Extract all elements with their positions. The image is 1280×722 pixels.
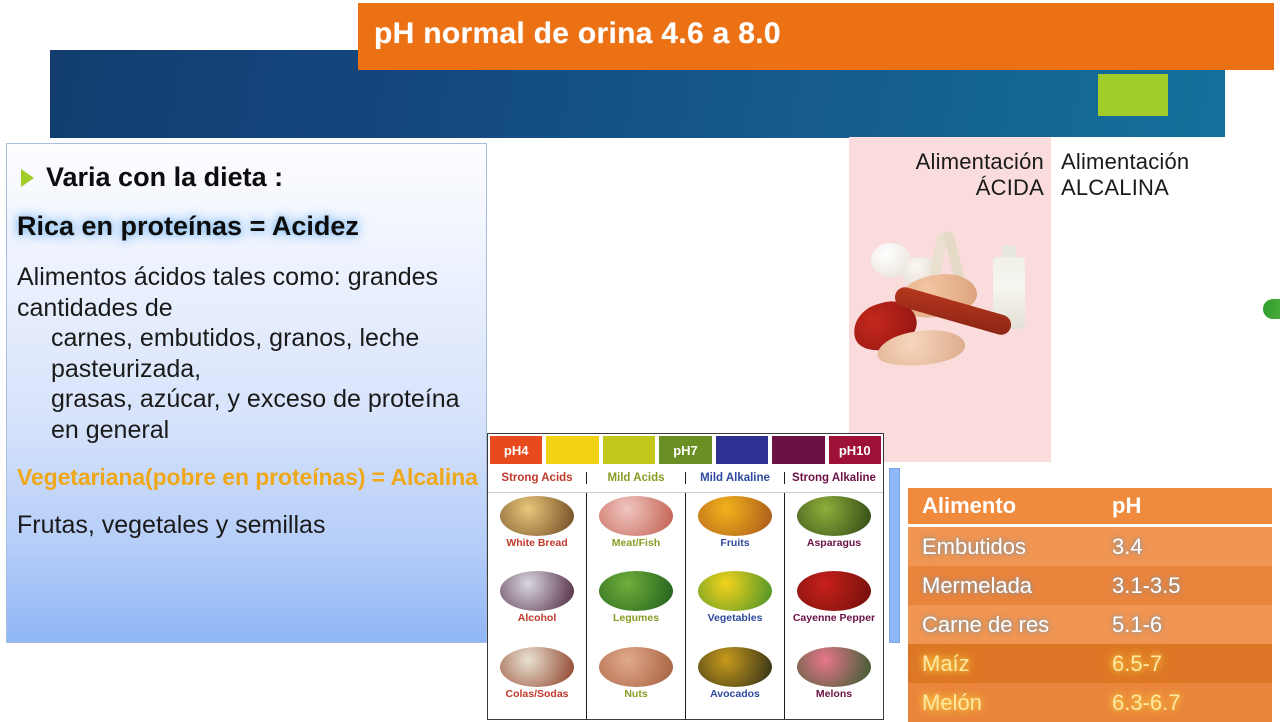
ph-swatch-3 bbox=[603, 436, 655, 464]
table-row: Mermelada3.1-3.5 bbox=[908, 566, 1272, 605]
highlight-heading: Rica en proteínas = Acidez bbox=[17, 211, 476, 242]
ph-food-cell: Alcohol bbox=[488, 568, 586, 643]
table-row: Maíz6.5-7 bbox=[908, 644, 1272, 683]
ph-column-1: White BreadAlcoholColas/Sodas bbox=[488, 493, 587, 719]
ph-food-cell: Fruits bbox=[686, 493, 784, 568]
ph-category-1: Strong Acids bbox=[488, 472, 587, 484]
header-cell-alimento: Alimento bbox=[922, 493, 1112, 519]
food-label: Fruits bbox=[720, 538, 749, 549]
alkaline-label-line1: Alimentación bbox=[1061, 149, 1189, 174]
bullet-heading-row: Varia con la dieta : bbox=[21, 162, 476, 193]
ph-food-cell: Vegetables bbox=[686, 568, 784, 643]
ph-food-cell: Cayenne Pepper bbox=[785, 568, 883, 643]
food-label: White Bread bbox=[506, 538, 567, 549]
ph-swatch-6 bbox=[772, 436, 824, 464]
alkaline-label-line2: ALCALINA bbox=[1061, 175, 1271, 201]
table-row: Carne de res5.1-6 bbox=[908, 605, 1272, 644]
ph-swatch-2 bbox=[546, 436, 598, 464]
table-row: Melón6.3-6.7 bbox=[908, 683, 1272, 722]
ph-food-cell: Colas/Sodas bbox=[488, 644, 586, 719]
food-label: Colas/Sodas bbox=[505, 689, 568, 700]
ph-food-cell: Asparagus bbox=[785, 493, 883, 568]
food-label: Melons bbox=[816, 689, 852, 700]
food-label: Avocados bbox=[710, 689, 760, 700]
acid-food-illustration bbox=[849, 227, 1051, 427]
ph-category-row: Strong AcidsMild AcidsMild AlkalineStron… bbox=[488, 464, 883, 492]
ph-food-scale-chart: pH4pH7pH10 Strong AcidsMild AcidsMild Al… bbox=[487, 433, 884, 720]
slide-title-banner: pH normal de orina 4.6 a 8.0 bbox=[358, 3, 1274, 70]
cell-alimento: Melón bbox=[922, 690, 1112, 716]
table-row: Embutidos3.4 bbox=[908, 527, 1272, 566]
cell-ph: 6.5-7 bbox=[1112, 651, 1272, 677]
slide-title: pH normal de orina 4.6 a 8.0 bbox=[374, 17, 781, 51]
ph-food-cell: Avocados bbox=[686, 644, 784, 719]
food-thumbnail bbox=[500, 571, 574, 611]
food-thumbnail bbox=[599, 571, 673, 611]
header-accent-square bbox=[1098, 74, 1168, 116]
cell-alimento: Mermelada bbox=[922, 573, 1112, 599]
cell-ph: 3.1-3.5 bbox=[1112, 573, 1272, 599]
paragraph-line-2: carnes, embutidos, granos, leche pasteur… bbox=[17, 323, 476, 384]
header-cell-ph: pH bbox=[1112, 493, 1272, 519]
food-ph-table: Alimento pH Embutidos3.4Mermelada3.1-3.5… bbox=[908, 488, 1272, 720]
ph-column-4: AsparagusCayenne PepperMelons bbox=[785, 493, 883, 719]
food-thumbnail bbox=[797, 647, 871, 687]
ph-food-cell: Melons bbox=[785, 644, 883, 719]
food-label: Vegetables bbox=[708, 613, 763, 624]
alkaline-diet-label: Alimentación ALCALINA bbox=[1061, 149, 1271, 201]
ph-food-cell: Meat/Fish bbox=[587, 493, 685, 568]
ph-category-2: Mild Acids bbox=[587, 472, 686, 484]
ph-category-3: Mild Alkaline bbox=[686, 472, 785, 484]
alkaline-heading: Vegetariana(pobre en proteínas) = Alcali… bbox=[17, 464, 476, 491]
paragraph-line-1: Alimentos ácidos tales como: grandes can… bbox=[17, 263, 438, 322]
ph-swatch-4: pH7 bbox=[659, 436, 711, 464]
ph-swatch-5 bbox=[716, 436, 768, 464]
cell-alimento: Carne de res bbox=[922, 612, 1112, 638]
food-label: Meat/Fish bbox=[612, 538, 660, 549]
cell-alimento: Maíz bbox=[922, 651, 1112, 677]
food-label: Alcohol bbox=[518, 613, 557, 624]
acid-label-line1: Alimentación bbox=[916, 149, 1044, 174]
table-body: Embutidos3.4Mermelada3.1-3.5Carne de res… bbox=[908, 527, 1272, 722]
alkaline-food-illustration bbox=[1257, 203, 1280, 418]
blue-divider-strip bbox=[889, 468, 900, 643]
acid-label-line2: ÁCIDA bbox=[859, 175, 1044, 201]
ph-category-4: Strong Alkaline bbox=[785, 472, 883, 484]
food-thumbnail bbox=[797, 496, 871, 536]
food-thumbnail bbox=[698, 647, 772, 687]
ph-column-3: FruitsVegetablesAvocados bbox=[686, 493, 785, 719]
bullet-heading-text: Varia con la dieta : bbox=[46, 162, 283, 193]
ph-food-columns: White BreadAlcoholColas/SodasMeat/FishLe… bbox=[488, 492, 883, 719]
table-header-row: Alimento pH bbox=[908, 488, 1272, 527]
food-thumbnail bbox=[500, 496, 574, 536]
food-label: Cayenne Pepper bbox=[793, 613, 875, 624]
alkaline-foods-line: Frutas, vegetales y semillas bbox=[17, 511, 476, 540]
food-thumbnail bbox=[599, 647, 673, 687]
food-thumbnail bbox=[698, 496, 772, 536]
food-thumbnail bbox=[599, 496, 673, 536]
acid-diet-label: Alimentación ÁCIDA bbox=[859, 149, 1044, 201]
cell-alimento: Embutidos bbox=[922, 534, 1112, 560]
food-label: Legumes bbox=[613, 613, 659, 624]
ph-food-cell: Legumes bbox=[587, 568, 685, 643]
cell-ph: 5.1-6 bbox=[1112, 612, 1272, 638]
acid-foods-paragraph: Alimentos ácidos tales como: grandes can… bbox=[17, 262, 476, 445]
ph-swatch-row: pH4pH7pH10 bbox=[488, 434, 883, 464]
food-thumbnail bbox=[500, 647, 574, 687]
cell-ph: 6.3-6.7 bbox=[1112, 690, 1272, 716]
content-panel: Varia con la dieta : Rica en proteínas =… bbox=[6, 143, 487, 643]
paragraph-line-3: grasas, azúcar, y exceso de proteína en … bbox=[17, 384, 476, 445]
cell-ph: 3.4 bbox=[1112, 534, 1272, 560]
food-thumbnail bbox=[797, 571, 871, 611]
food-thumbnail bbox=[698, 571, 772, 611]
ph-swatch-1: pH4 bbox=[490, 436, 542, 464]
ph-column-2: Meat/FishLegumesNuts bbox=[587, 493, 686, 719]
ph-food-cell: White Bread bbox=[488, 493, 586, 568]
triangle-bullet-icon bbox=[21, 169, 34, 187]
alimentacion-comparison-image: Alimentación ÁCIDA Alimentación ALCALINA bbox=[849, 137, 1280, 462]
ph-food-cell: Nuts bbox=[587, 644, 685, 719]
food-label: Nuts bbox=[624, 689, 647, 700]
ph-swatch-7: pH10 bbox=[829, 436, 881, 464]
food-label: Asparagus bbox=[807, 538, 861, 549]
